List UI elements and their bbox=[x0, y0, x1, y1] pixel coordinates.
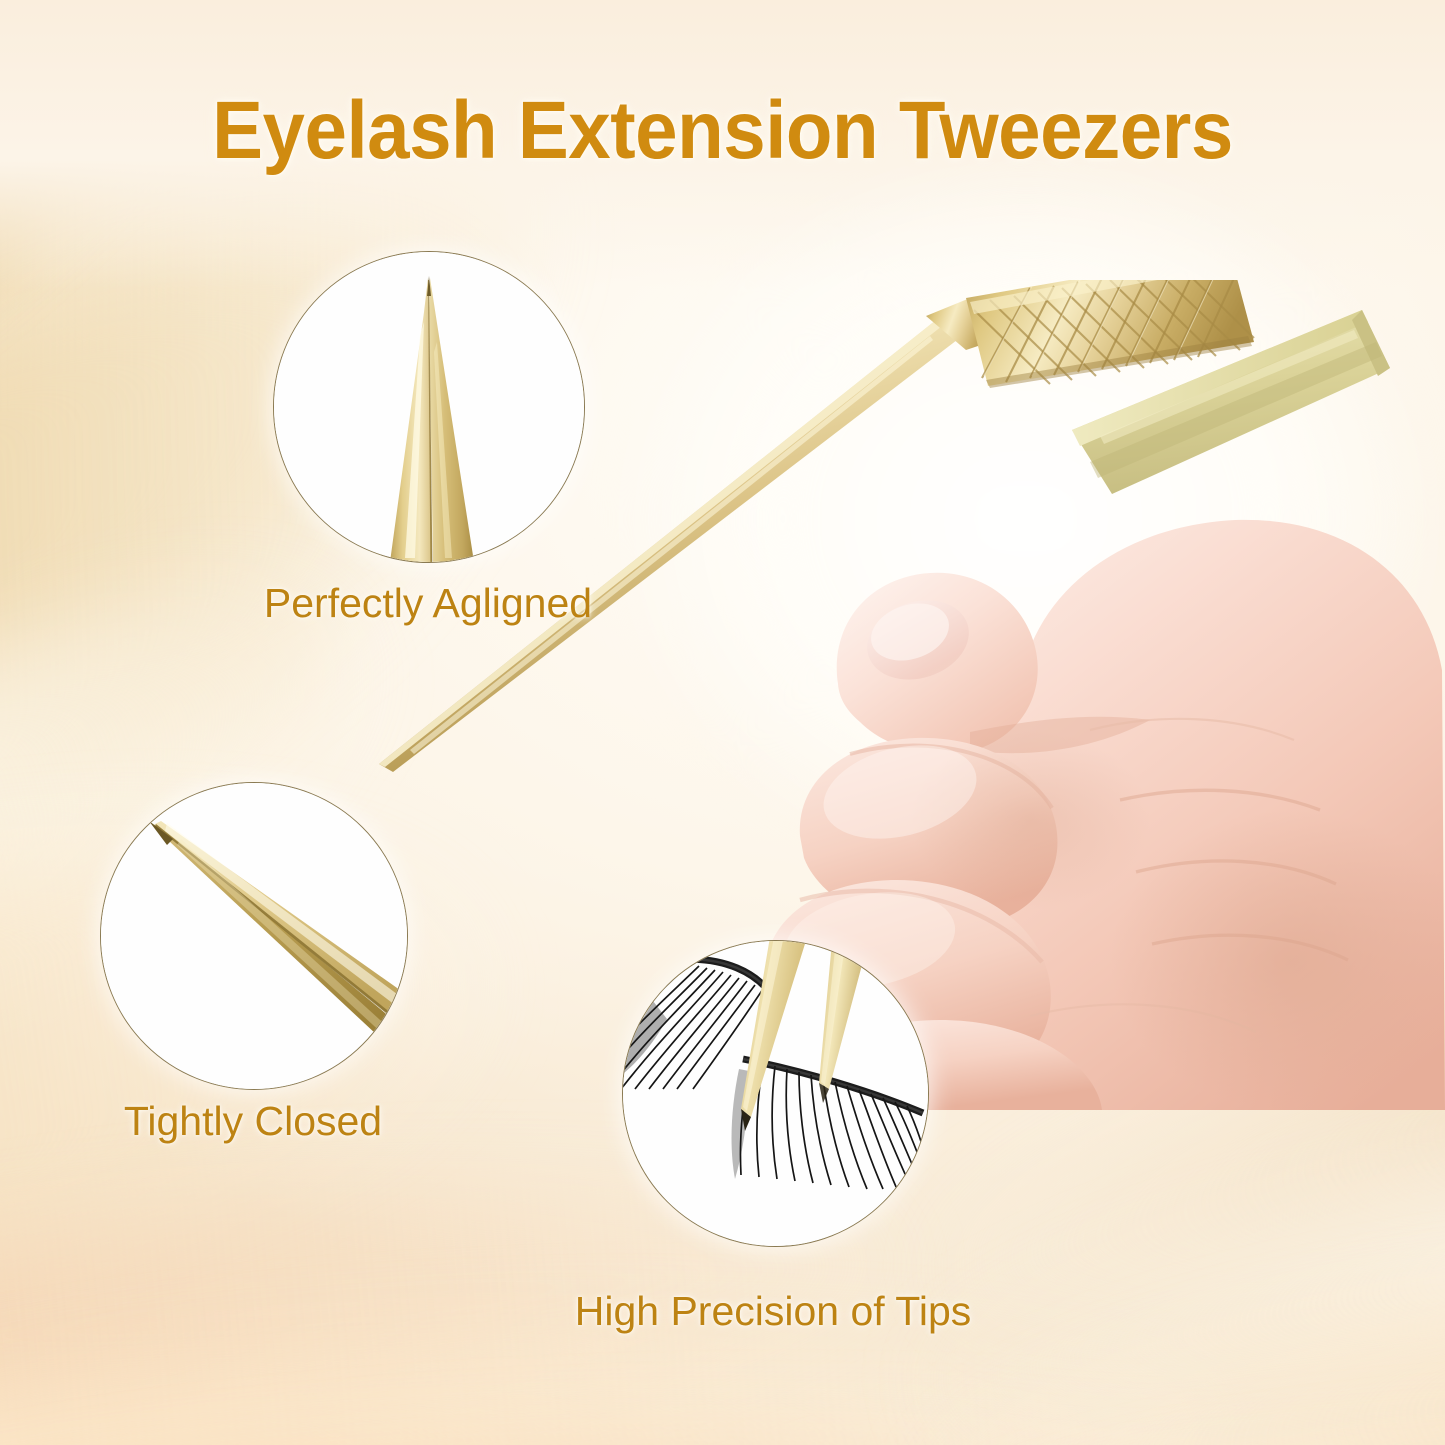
callout-caption-aligned: Perfectly Agligned bbox=[163, 580, 693, 627]
tweezer-knurled-grip bbox=[966, 280, 1254, 388]
callout-circle-closed bbox=[100, 782, 408, 1090]
page-title: Eyelash Extension Tweezers bbox=[51, 84, 1395, 178]
callout-caption-closed: Tightly Closed bbox=[0, 1098, 521, 1145]
callout-circle-aligned bbox=[273, 251, 585, 563]
callout-caption-precision: High Precision of Tips bbox=[508, 1288, 1038, 1335]
callout-circle-precision bbox=[622, 940, 929, 1247]
product-image-canvas: Eyelash Extension Tweezers bbox=[0, 0, 1445, 1445]
